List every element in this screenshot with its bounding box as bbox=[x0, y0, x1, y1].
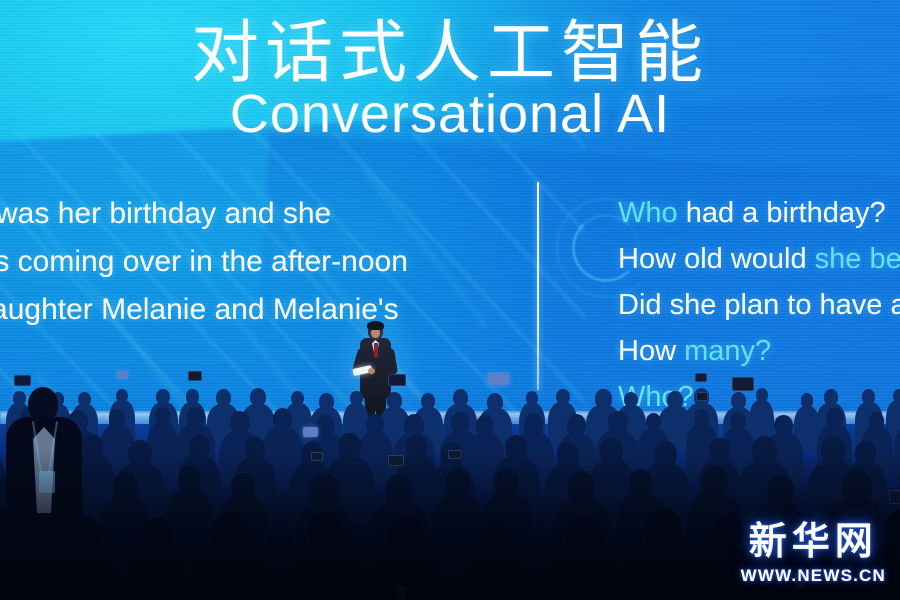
column-divider bbox=[537, 182, 539, 390]
audience-camera-phone bbox=[388, 374, 405, 385]
audience-camera-phone bbox=[889, 490, 900, 504]
foreground-attendee-head bbox=[28, 387, 58, 421]
audience-camera-phone bbox=[488, 373, 508, 386]
audience-silhouettes bbox=[0, 385, 900, 600]
audience-badge bbox=[794, 573, 805, 588]
audience-camera-phone bbox=[188, 371, 203, 381]
audience-camera-phone bbox=[311, 452, 323, 460]
audience-camera-phone bbox=[695, 373, 707, 381]
audience-camera-phone bbox=[117, 371, 128, 378]
audience-shoulders bbox=[697, 543, 759, 600]
audience-camera-phone bbox=[448, 450, 462, 459]
presenter-hand bbox=[368, 368, 375, 374]
foreground-attendee bbox=[6, 387, 82, 597]
presentation-photo: 对话式人工智能 Conversational AI ay was her bir… bbox=[0, 0, 900, 600]
audience-camera-phone bbox=[14, 375, 31, 386]
presenter-tie bbox=[374, 343, 378, 357]
audience-badge bbox=[395, 586, 406, 600]
audience-camera-phone bbox=[388, 455, 404, 466]
audience-camera-phone bbox=[696, 392, 708, 400]
audience-camera-phone bbox=[303, 427, 318, 436]
presenter-hair bbox=[367, 321, 384, 330]
foreground-attendee-badge bbox=[39, 471, 55, 493]
audience-camera-phone bbox=[732, 377, 754, 391]
decorative-ring-icon bbox=[572, 214, 640, 282]
